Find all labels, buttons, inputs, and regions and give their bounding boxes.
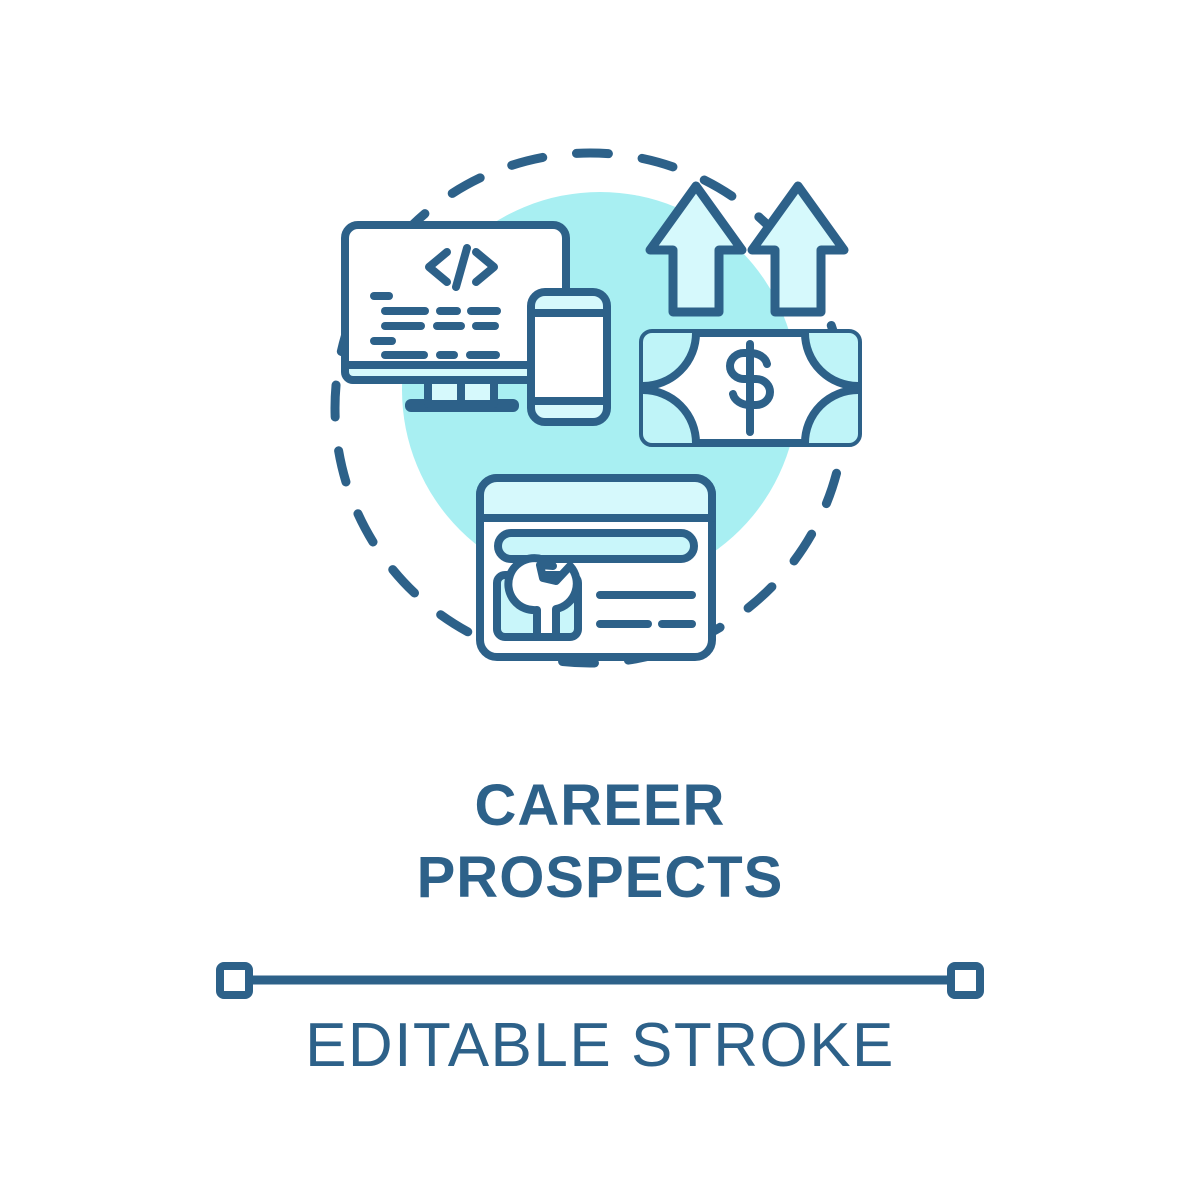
concept-icon-canvas: CAREER PROSPECTS EDITABLE STROKE — [0, 0, 1200, 1200]
phone-screen — [531, 313, 607, 401]
editable-stroke-widget — [220, 966, 980, 995]
id-card-with-wrench — [480, 478, 712, 657]
stroke-handle-left[interactable] — [220, 966, 249, 995]
career-prospects-illustration — [0, 0, 1200, 1200]
id-card-header-strip — [480, 478, 712, 518]
stroke-handle-right[interactable] — [951, 966, 980, 995]
smartphone — [531, 292, 607, 422]
dollar-banknote — [643, 333, 858, 443]
